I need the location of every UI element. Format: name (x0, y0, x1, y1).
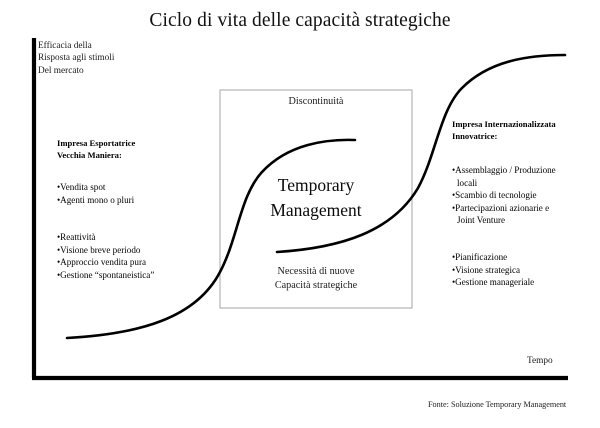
page-title: Ciclo di vita delle capacità strategiche (0, 9, 600, 33)
left-bullets-group-2: •Reattività •Visione breve periodo •Appr… (57, 231, 154, 281)
list-item: •Partecipazioni azionarie e (452, 202, 556, 215)
list-item: •Gestione manageriale (452, 276, 534, 289)
source-note: Fonte: Soluzione Temporary Management (428, 400, 566, 409)
discontinuity-label: Discontinuità (220, 96, 412, 107)
list-item: •Reattività (57, 231, 154, 244)
left-block-heading-line-2: Vecchia Maniera: (57, 149, 135, 161)
list-item: •Visione breve periodo (57, 244, 154, 257)
list-item: •Pianificazione (452, 251, 534, 264)
left-block-heading-line-1: Impresa Esportatrice (57, 137, 135, 149)
temporary-management-line-2: Management (220, 198, 412, 223)
list-item-continuation: locali (452, 177, 556, 190)
right-block-heading: Impresa Internazionalizzata Innovatrice: (452, 118, 556, 143)
list-item: •Agenti mono o pluri (57, 194, 134, 207)
left-block-heading: Impresa Esportatrice Vecchia Maniera: (57, 137, 135, 162)
list-item: •Scambio di tecnologie (452, 189, 556, 202)
left-bullets-group-1: •Vendita spot •Agenti mono o pluri (57, 181, 134, 206)
list-item: •Visione strategica (452, 264, 534, 277)
right-block-heading-line-1: Impresa Internazionalizzata (452, 118, 556, 130)
diagram-canvas: Ciclo di vita delle capacità strategiche… (0, 0, 600, 428)
temporary-management-label: Temporary Management (220, 173, 412, 223)
list-item: •Approccio vendita pura (57, 256, 154, 269)
right-bullets-group-1: •Assemblaggio / Produzione locali •Scamb… (452, 164, 556, 227)
needs-label: Necessità di nuove Capacità strategiche (220, 265, 412, 293)
list-item-continuation: Joint Venture (452, 214, 556, 227)
right-block-heading-line-2: Innovatrice: (452, 130, 556, 142)
y-axis-caption-line-1: Efficacia della (38, 40, 114, 52)
temporary-management-line-1: Temporary (220, 173, 412, 198)
y-axis-caption-line-3: Del mercato (38, 65, 114, 77)
needs-label-line-2: Capacità strategiche (220, 279, 412, 293)
y-axis-caption: Efficacia della Risposta agli stimoli De… (38, 40, 114, 77)
list-item: •Assemblaggio / Produzione (452, 164, 556, 177)
list-item: •Vendita spot (57, 181, 134, 194)
y-axis-caption-line-2: Risposta agli stimoli (38, 52, 114, 64)
right-bullets-group-2: •Pianificazione •Visione strategica •Ges… (452, 251, 534, 289)
list-item: •Gestione “spontaneistica” (57, 269, 154, 282)
needs-label-line-1: Necessità di nuove (220, 265, 412, 279)
x-axis-caption: Tempo (527, 355, 553, 367)
